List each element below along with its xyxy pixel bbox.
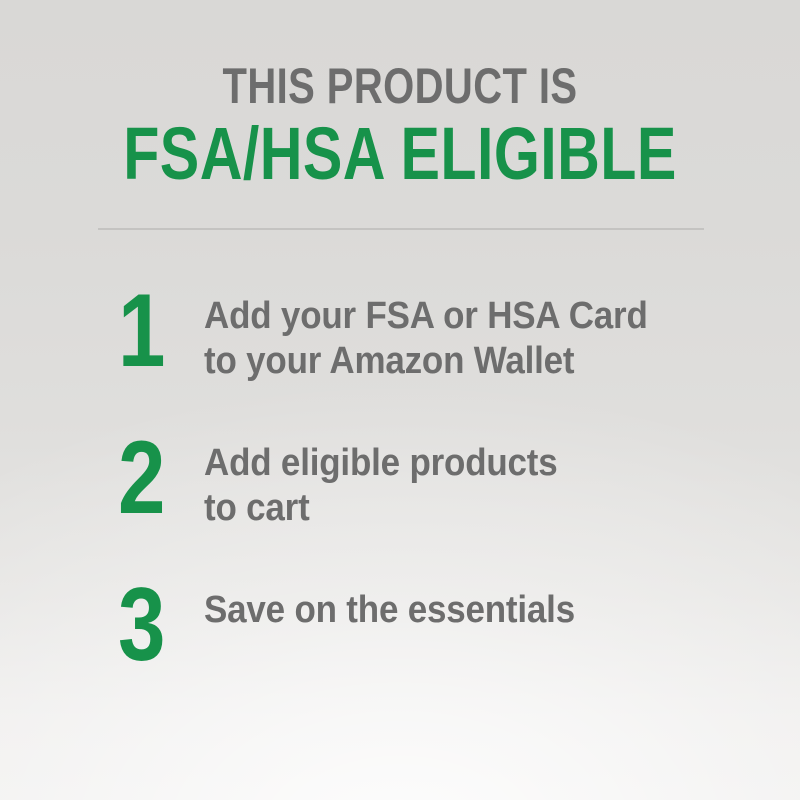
section-divider — [98, 228, 704, 230]
step-item: 1 Add your FSA or HSA Card to your Amazo… — [118, 283, 718, 384]
steps-list: 1 Add your FSA or HSA Card to your Amazo… — [118, 283, 718, 673]
step-line: Add your FSA or HSA Card — [204, 294, 677, 339]
headline-title: FSA/HSA ELIGIBLE — [80, 116, 720, 192]
step-description: Add your FSA or HSA Card to your Amazon … — [204, 283, 677, 384]
banner-header: THIS PRODUCT IS FSA/HSA ELIGIBLE — [0, 60, 800, 192]
step-line: Save on the essentials — [204, 588, 677, 633]
step-line: to cart — [204, 486, 677, 531]
step-item: 3 Save on the essentials — [118, 577, 718, 673]
step-line: to your Amazon Wallet — [204, 339, 677, 384]
step-number: 3 — [118, 577, 189, 673]
step-description: Save on the essentials — [204, 577, 677, 633]
step-number: 2 — [118, 430, 189, 526]
step-description: Add eligible products to cart — [204, 430, 677, 531]
step-number: 1 — [118, 283, 189, 379]
step-item: 2 Add eligible products to cart — [118, 430, 718, 531]
step-line: Add eligible products — [204, 441, 677, 486]
fsa-hsa-eligible-banner: THIS PRODUCT IS FSA/HSA ELIGIBLE 1 Add y… — [0, 0, 800, 800]
headline-eyebrow: THIS PRODUCT IS — [80, 60, 720, 112]
